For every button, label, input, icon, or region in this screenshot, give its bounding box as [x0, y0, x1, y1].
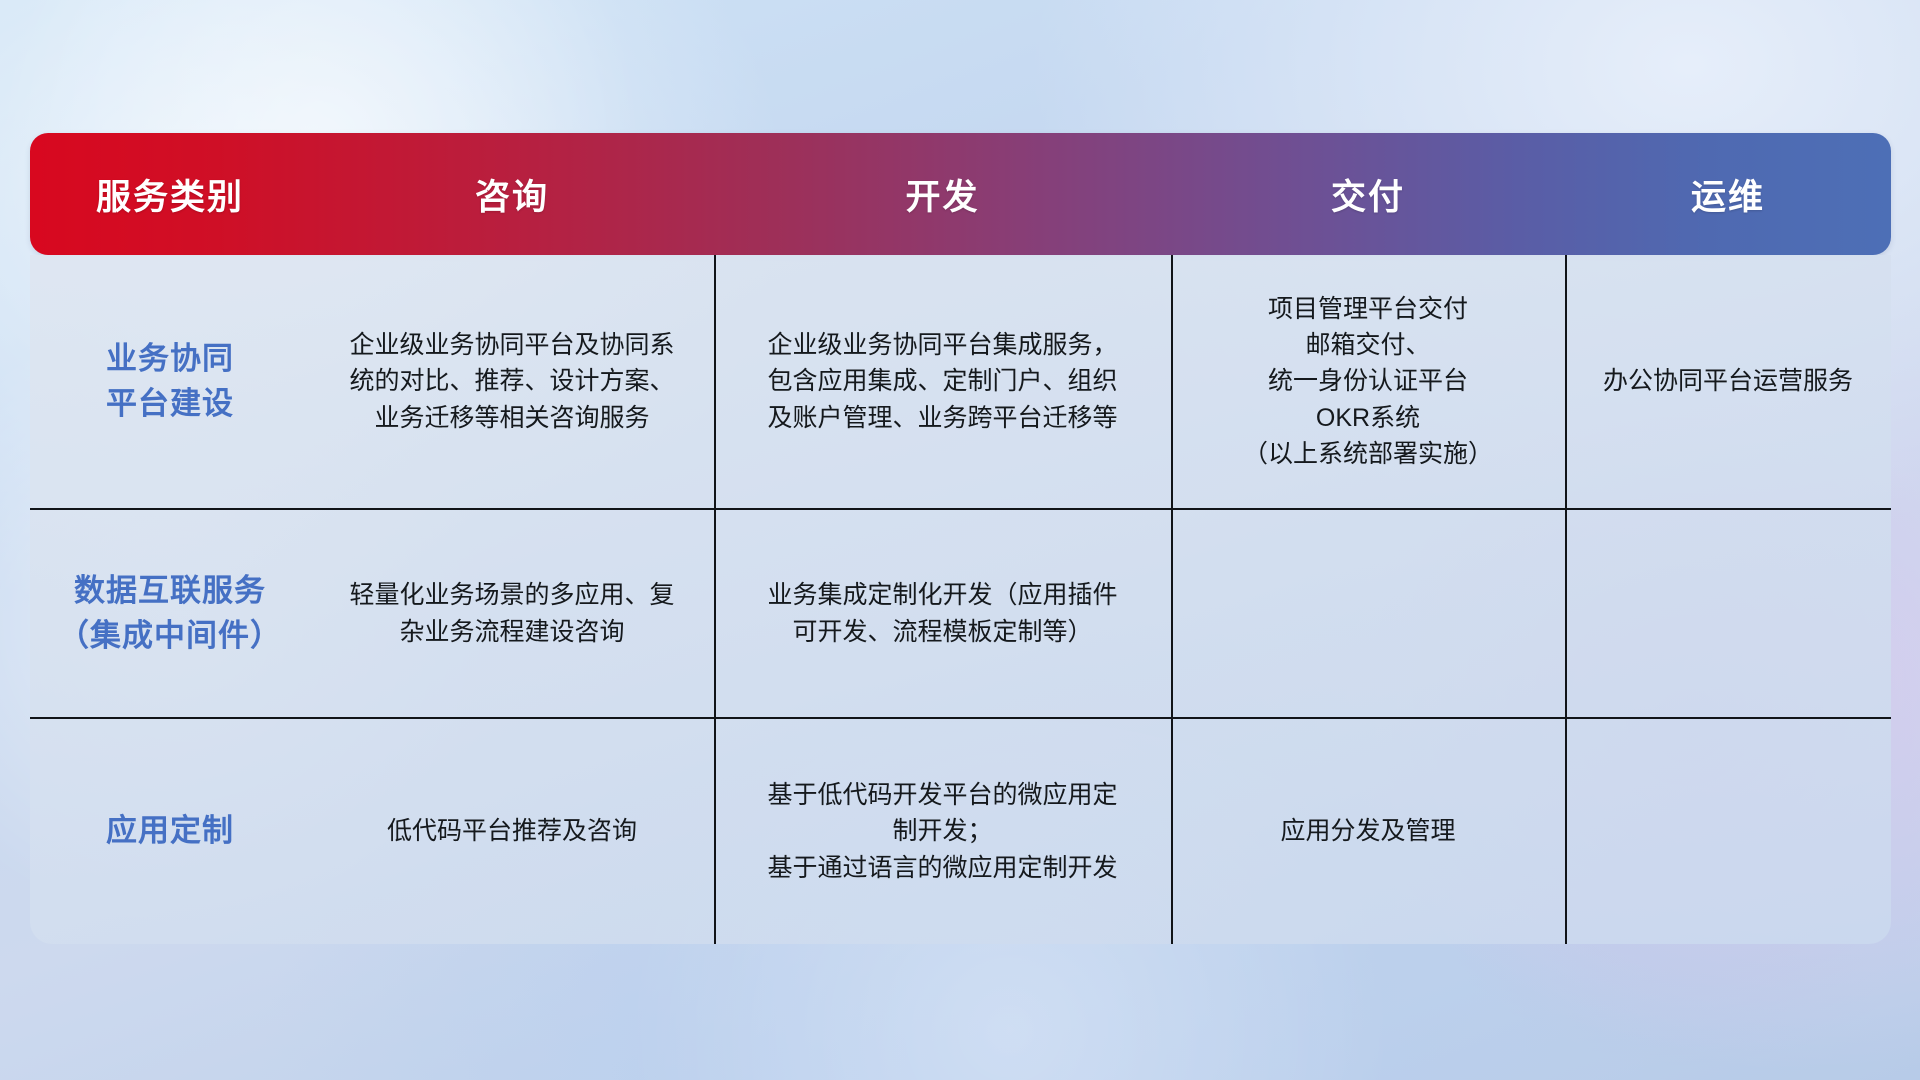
cell-consulting: 低代码平台推荐及咨询	[310, 719, 714, 944]
table-row: 应用定制 低代码平台推荐及咨询 基于低代码开发平台的微应用定 制开发； 基于通过…	[30, 717, 1891, 944]
table-row: 业务协同 平台建设 企业级业务协同平台及协同系 统的对比、推荐、设计方案、 业务…	[30, 255, 1891, 508]
column-header-category: 服务类别	[30, 133, 310, 255]
cell-consulting: 企业级业务协同平台及协同系 统的对比、推荐、设计方案、 业务迁移等相关咨询服务	[310, 255, 714, 508]
cell-delivery	[1171, 510, 1565, 717]
service-matrix-table: 服务类别 咨询 开发 交付 运维 业务协同 平台建设 企业级业务协同平台及协同系…	[30, 133, 1891, 944]
column-header-operations: 运维	[1565, 133, 1891, 255]
row-category-label: 数据互联服务 （集成中间件）	[30, 510, 310, 717]
cell-development: 企业级业务协同平台集成服务， 包含应用集成、定制门户、组织 及账户管理、业务跨平…	[714, 255, 1171, 508]
row-category-label: 业务协同 平台建设	[30, 255, 310, 508]
table-row: 数据互联服务 （集成中间件） 轻量化业务场景的多应用、复 杂业务流程建设咨询 业…	[30, 508, 1891, 717]
cell-delivery: 项目管理平台交付 邮箱交付、 统一身份认证平台 OKR系统 （以上系统部署实施）	[1171, 255, 1565, 508]
table-body: 业务协同 平台建设 企业级业务协同平台及协同系 统的对比、推荐、设计方案、 业务…	[30, 255, 1891, 944]
column-header-development: 开发	[714, 133, 1171, 255]
cell-development: 业务集成定制化开发（应用插件 可开发、流程模板定制等）	[714, 510, 1171, 717]
cell-consulting: 轻量化业务场景的多应用、复 杂业务流程建设咨询	[310, 510, 714, 717]
cell-delivery: 应用分发及管理	[1171, 719, 1565, 944]
cell-development: 基于低代码开发平台的微应用定 制开发； 基于通过语言的微应用定制开发	[714, 719, 1171, 944]
table-header-row: 服务类别 咨询 开发 交付 运维	[30, 133, 1891, 255]
column-header-delivery: 交付	[1171, 133, 1565, 255]
row-category-label: 应用定制	[30, 719, 310, 944]
cell-operations: 办公协同平台运营服务	[1565, 255, 1891, 508]
cell-operations	[1565, 510, 1891, 717]
column-header-consulting: 咨询	[310, 133, 714, 255]
cell-operations	[1565, 719, 1891, 944]
